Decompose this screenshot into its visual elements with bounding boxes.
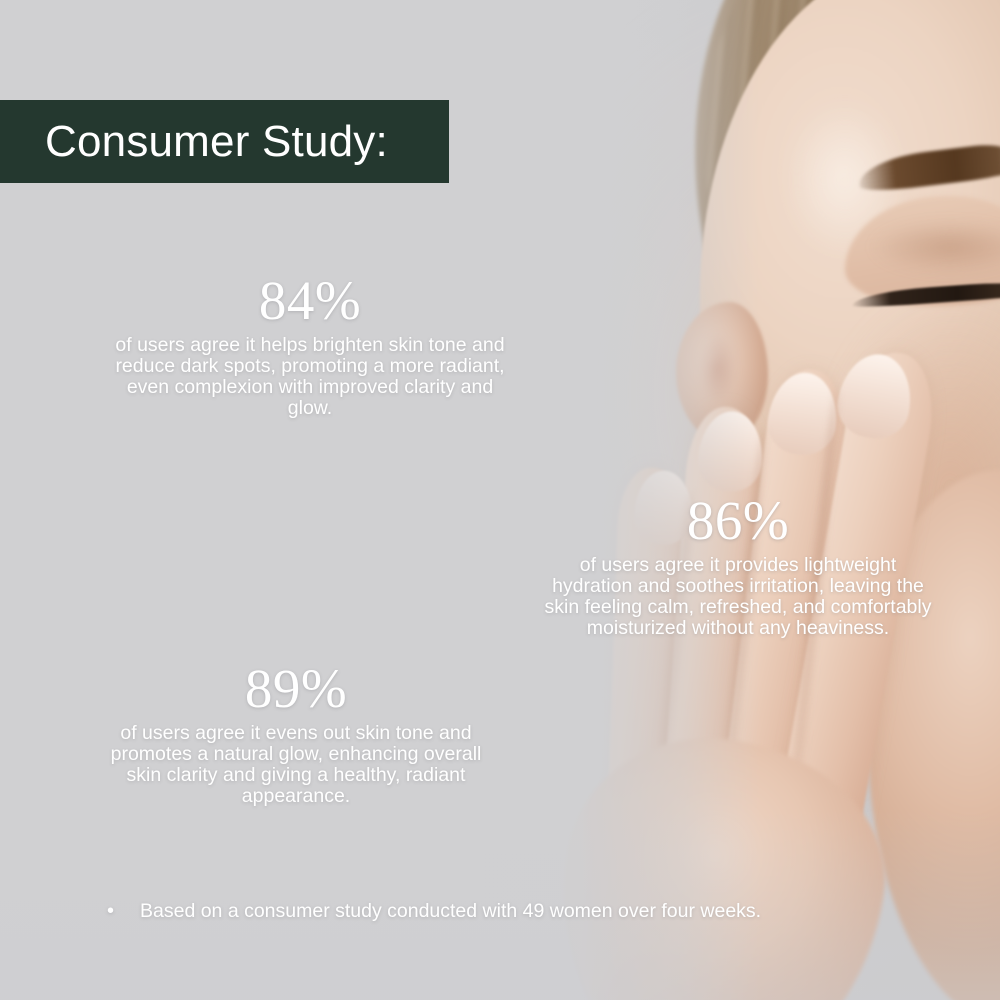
stat-description: of users agree it helps brighten skin to…	[110, 335, 510, 419]
infographic-canvas: Consumer Study: 84% of users agree it he…	[0, 0, 1000, 1000]
stat-description: of users agree it provides lightweight h…	[538, 555, 938, 639]
stat-block-89: 89% of users agree it evens out skin ton…	[96, 660, 496, 807]
page-title: Consumer Study:	[45, 117, 388, 167]
bullet-icon: •	[100, 898, 140, 924]
stat-block-86: 86% of users agree it provides lightweig…	[538, 492, 938, 639]
footnote: • Based on a consumer study conducted wi…	[100, 898, 761, 924]
stat-value: 84%	[110, 272, 510, 330]
title-banner: Consumer Study:	[0, 100, 449, 183]
stat-description: of users agree it evens out skin tone an…	[96, 723, 496, 807]
stat-block-84: 84% of users agree it helps brighten ski…	[110, 272, 510, 419]
stat-value: 89%	[96, 660, 496, 718]
footnote-text: Based on a consumer study conducted with…	[140, 898, 761, 924]
stat-value: 86%	[538, 492, 938, 550]
